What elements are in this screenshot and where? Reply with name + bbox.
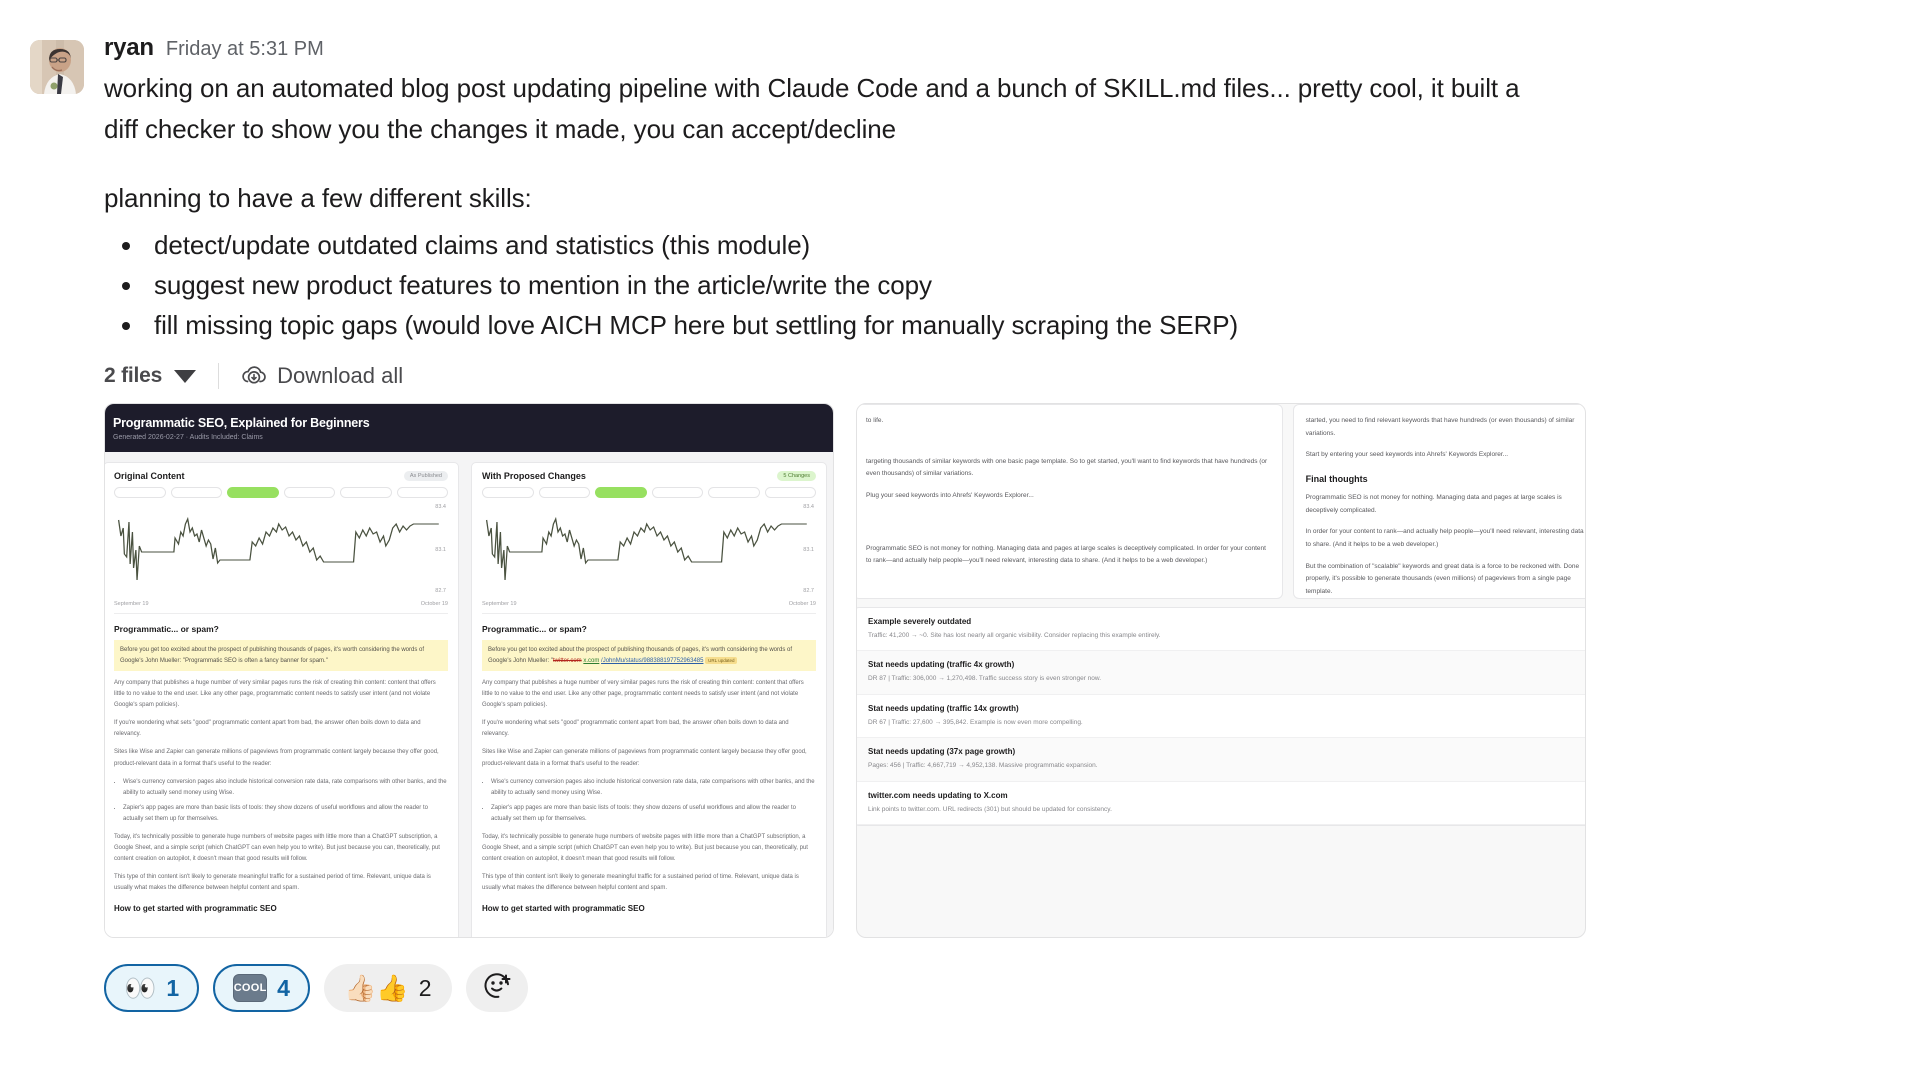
chip[interactable] [765,487,817,498]
message-text: working on an automated blog post updati… [104,68,1554,345]
chip[interactable] [171,487,223,498]
y-axis-label-top: 83.4 [435,504,446,510]
diff-column-original: Original Content As Published [104,462,459,938]
finding-detail: Traffic: 41,200 → ~0. Site has lost near… [868,631,1582,641]
highlighted-quote-diff: Before you get too excited about the pro… [482,640,816,671]
column-header: With Proposed Changes 5 Changes [482,471,816,481]
paragraph: Sites like Wise and Zapier can generate … [114,747,448,769]
diff-column-proposed: With Proposed Changes 5 Changes [471,462,827,938]
x-axis-labels: September 19 October 19 [114,601,448,607]
reactions-bar: 👀 1 COOL 4 👍🏻👍 2 [104,964,1904,1012]
list-item[interactable]: Example severely outdated Traffic: 41,20… [856,608,1586,651]
finding-title: Stat needs updating (37x page growth) [868,747,1582,756]
y-axis-label-mid: 83.1 [803,547,814,553]
files-count-label[interactable]: 2 files [104,364,162,388]
y-axis-label-mid: 83.1 [435,547,446,553]
finding-detail: DR 87 | Traffic: 306,000 → 1,270,498. Tr… [868,674,1582,684]
bullet-list: Wise's currency conversion pages also in… [114,777,448,825]
message-header: ryan Friday at 5:31 PM [104,34,1904,62]
attachment-thumbnail-diff-report[interactable]: Programmatic SEO, Explained for Beginner… [104,403,834,938]
message-timestamp[interactable]: Friday at 5:31 PM [166,38,324,61]
download-all-label: Download all [277,363,403,389]
traffic-chart-proposed: 83.4 83.1 82.7 September 19 October 19 [482,502,816,614]
list-item: Wise's currency conversion pages also in… [123,777,448,799]
bullet-list: Wise's currency conversion pages also in… [482,777,816,825]
list-item: Wise's currency conversion pages also in… [491,777,816,799]
status-badge: As Published [404,471,448,481]
finding-title: twitter.com needs updating to X.com [868,791,1582,800]
changes-badge: 5 Changes [777,471,816,481]
x-axis-label-end: October 19 [421,601,448,607]
chip-active[interactable] [227,487,279,498]
diff-report: Programmatic SEO, Explained for Beginner… [104,404,834,938]
chevron-down-icon[interactable] [174,370,196,383]
column-header: Original Content As Published [114,471,448,481]
chip-active[interactable] [595,487,647,498]
paragraph: Today, it's technically possible to gene… [482,832,816,865]
filter-chips [482,487,816,498]
report-subtitle: Generated 2026-02-27 · Audits Included: … [113,434,834,441]
paragraph: Any company that publishes a huge number… [482,678,816,711]
divider [218,363,219,389]
paragraph: targeting thousands of similar keywords … [866,456,1270,481]
report-header: Programmatic SEO, Explained for Beginner… [104,404,834,452]
add-reaction-icon [482,971,512,1006]
paragraph: started, you need to find relevant keywo… [1306,415,1584,440]
y-axis-label-bottom: 82.7 [435,588,446,594]
audit-findings-list: Example severely outdated Traffic: 41,20… [856,607,1586,826]
author-name[interactable]: ryan [104,34,154,62]
lead-text: to life. [866,415,1270,428]
reaction-count: 1 [166,975,179,1002]
column-title: With Proposed Changes [482,471,586,481]
footer-heading: How to get started with programmatic SEO [482,904,816,913]
list-item: suggest new product features to mention … [104,265,1554,305]
paragraph: Sites like Wise and Zapier can generate … [482,747,816,769]
paragraph: This type of thin content isn't likely t… [482,872,816,894]
chip[interactable] [340,487,392,498]
section-heading: Programmatic... or spam? [482,624,816,634]
diff-columns: Original Content As Published [104,452,834,938]
content-card-right: started, you need to find relevant keywo… [1293,404,1586,599]
chip[interactable] [284,487,336,498]
files-bar: 2 files Download all [104,363,1904,389]
chip[interactable] [482,487,534,498]
chip[interactable] [539,487,591,498]
message-body: ryan Friday at 5:31 PM working on an aut… [104,34,1924,1012]
avatar[interactable] [30,40,84,94]
thumbsup-emoji: 👍🏻👍 [344,975,409,1001]
cloud-download-icon [241,365,267,387]
x-axis-label-end: October 19 [789,601,816,607]
paragraph: Plug your seed keywords into Ahrefs' Key… [866,490,1270,503]
section-heading: Programmatic... or spam? [114,624,448,634]
chip[interactable] [708,487,760,498]
list-item: Zapier's app pages are more than basic l… [491,803,816,825]
paragraph: If you're wondering what sets "good" pro… [482,718,816,740]
chip[interactable] [652,487,704,498]
add-reaction-button[interactable] [466,964,528,1012]
paragraph: Start by entering your seed keywords int… [1306,449,1584,462]
attachment-list: Programmatic SEO, Explained for Beginner… [104,403,1904,938]
finding-title: Stat needs updating (traffic 14x growth) [868,704,1582,713]
reaction-thumbsup[interactable]: 👍🏻👍 2 [324,964,452,1012]
quote-link[interactable]: /JohnMu/status/988388197752963485 [601,658,703,664]
column-title: Original Content [114,471,185,481]
x-axis-labels: September 19 October 19 [482,601,816,607]
x-axis-label-start: September 19 [114,601,149,607]
message-paragraph-1: working on an automated blog post updati… [104,68,1554,150]
y-axis-label-bottom: 82.7 [803,588,814,594]
footer-heading: How to get started with programmatic SEO [114,904,448,913]
paragraph: In order for your content to rank—and ac… [1306,526,1584,551]
chip[interactable] [397,487,449,498]
paragraph: Today, it's technically possible to gene… [114,832,448,865]
traffic-chart-original: 83.4 83.1 82.7 September 19 October 19 [114,502,448,614]
reaction-count: 2 [419,975,432,1002]
download-all-button[interactable]: Download all [241,363,403,389]
highlighted-quote: Before you get too excited about the pro… [114,640,448,671]
finding-detail: Pages: 456 | Traffic: 4,667,719 → 4,952,… [868,761,1582,771]
report-title: Programmatic SEO, Explained for Beginner… [113,416,834,430]
list-item: detect/update outdated claims and statis… [104,225,1554,265]
list-item[interactable]: Stat needs updating (37x page growth) Pa… [856,738,1586,781]
finding-title: Stat needs updating (traffic 4x growth) [868,660,1582,669]
message-paragraph-2: planning to have a few different skills: [104,178,1554,219]
paragraph: This type of thin content isn't likely t… [114,872,448,894]
audit-report: to life. targeting thousands of similar … [856,403,1586,826]
inserted-text: x.com [583,658,599,664]
content-card-left: to life. targeting thousands of similar … [856,404,1283,599]
audit-top-cards: to life. targeting thousands of similar … [856,403,1586,607]
y-axis-label-top: 83.4 [803,504,814,510]
paragraph: Programmatic SEO is not money for nothin… [866,543,1270,568]
paragraph: Any company that publishes a huge number… [114,678,448,711]
change-tag: URL updated [705,657,737,664]
paragraph: Programmatic SEO is not money for nothin… [1306,492,1584,517]
list-item[interactable]: Stat needs updating (traffic 14x growth)… [856,695,1586,738]
reaction-eyes[interactable]: 👀 1 [104,964,199,1012]
paragraph: But the combination of "scalable" keywor… [1306,561,1584,599]
finding-detail: Link points to twitter.com. URL redirect… [868,805,1582,815]
section-heading: Final thoughts [1306,474,1584,484]
filter-chips [114,487,448,498]
finding-title: Example severely outdated [868,617,1582,626]
chip[interactable] [114,487,166,498]
x-axis-label-start: September 19 [482,601,517,607]
cool-emoji: COOL [233,974,267,1002]
reaction-cool[interactable]: COOL 4 [213,964,310,1012]
finding-detail: DR 67 | Traffic: 27,600 → 395,842. Examp… [868,718,1582,728]
reaction-count: 4 [277,975,290,1002]
eyes-emoji: 👀 [124,975,156,1001]
list-item[interactable]: twitter.com needs updating to X.com Link… [856,782,1586,825]
list-item[interactable]: Stat needs updating (traffic 4x growth) … [856,651,1586,694]
paragraph: If you're wondering what sets "good" pro… [114,718,448,740]
list-item: Zapier's app pages are more than basic l… [123,803,448,825]
list-item: fill missing topic gaps (would love AICH… [104,305,1554,345]
skills-list: detect/update outdated claims and statis… [104,225,1554,345]
attachment-thumbnail-audit-report[interactable]: to life. targeting thousands of similar … [856,403,1586,938]
deleted-text: twitter.com [553,658,582,664]
slack-message: ryan Friday at 5:31 PM working on an aut… [0,0,1924,1012]
